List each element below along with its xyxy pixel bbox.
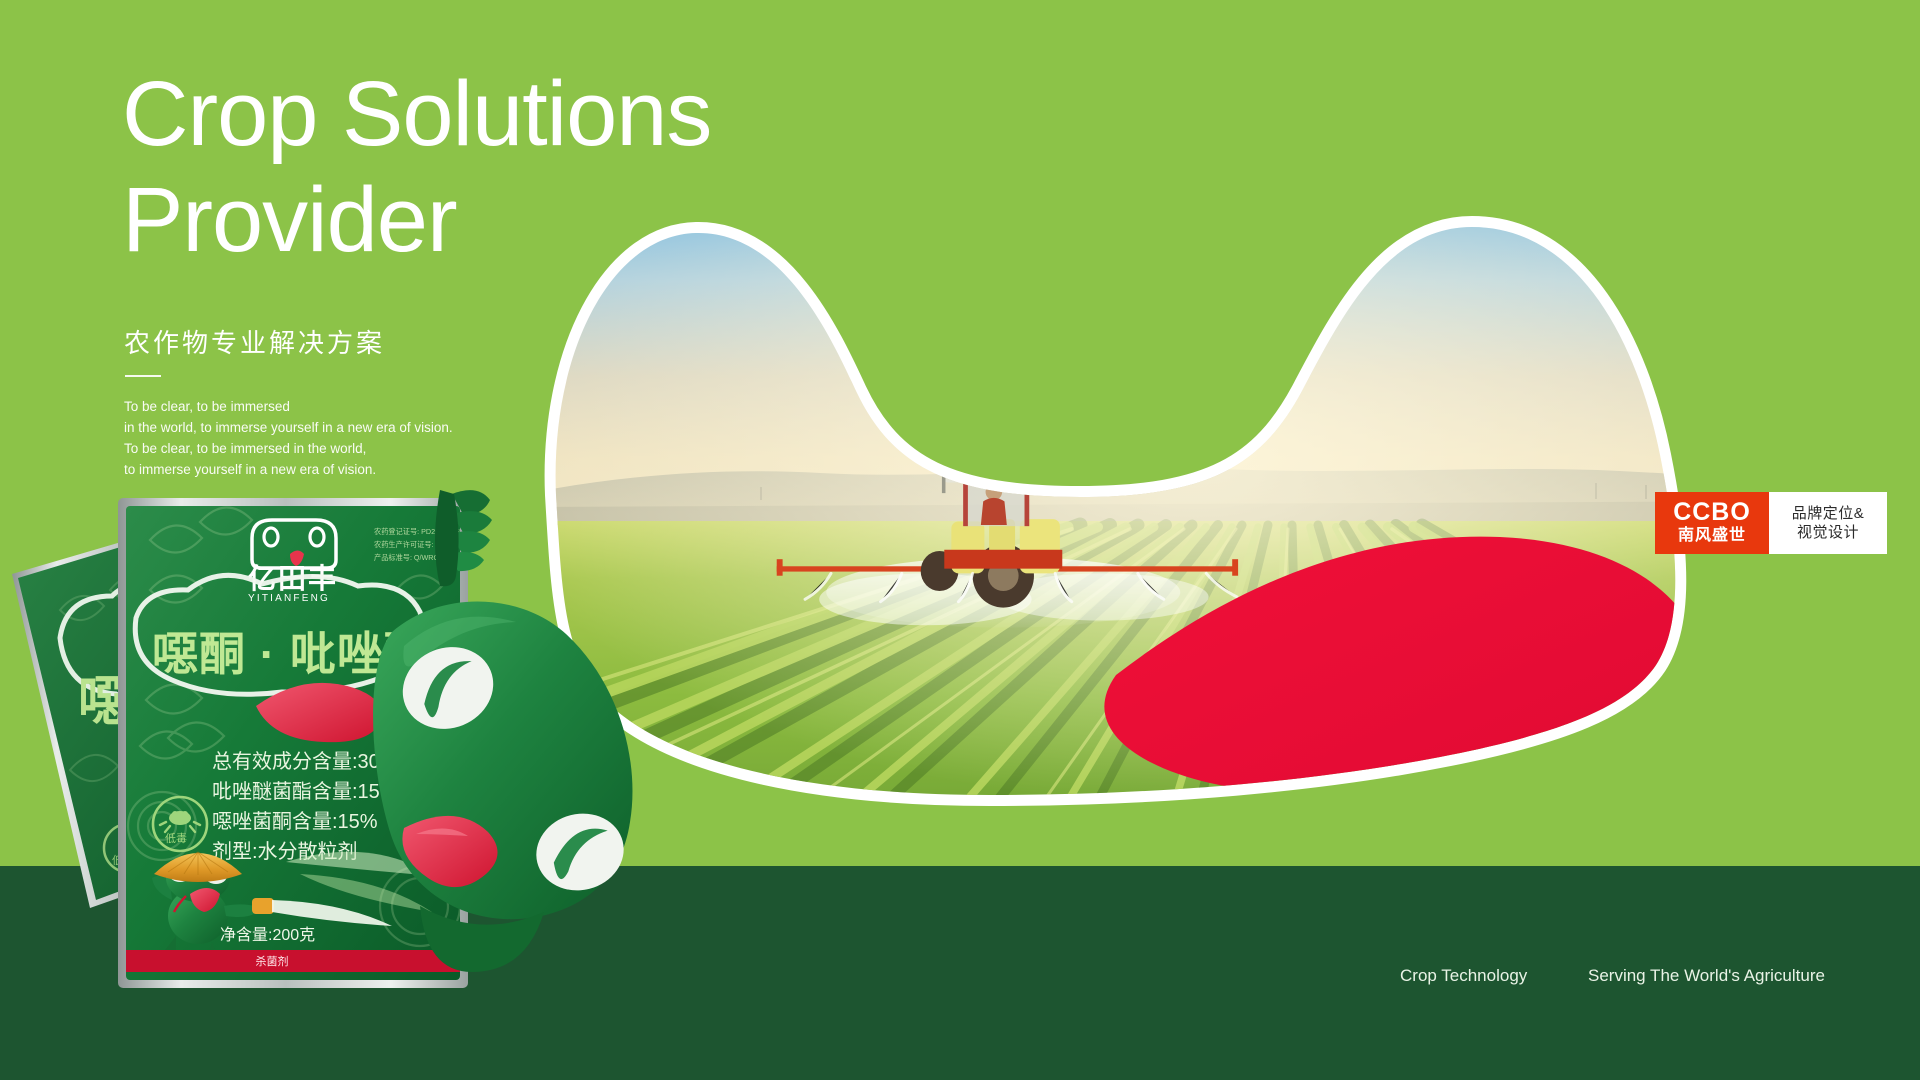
ccbo-tagline-line-1: 品牌定位&	[1792, 504, 1865, 524]
ccbo-logo-cn: 南风盛世	[1678, 526, 1746, 546]
svg-text:低毒: 低毒	[165, 832, 187, 845]
paragraph-block: To be clear, to be immersed in the world…	[124, 397, 544, 481]
headline-line-2: Provider	[122, 174, 882, 266]
package-net-weight: 净含量:200克	[220, 926, 315, 944]
product-package-group: 噁酮 低毒	[0, 470, 560, 1030]
headline-block: Crop Solutions Provider	[122, 68, 882, 266]
package-brand-en: YITIANFENG	[248, 593, 330, 604]
hero-photo-blob	[520, 195, 1820, 835]
divider-rule	[125, 375, 161, 377]
hero-photo-svg	[520, 195, 1820, 835]
subtitle-chinese: 农作物专业解决方案	[124, 323, 385, 360]
ccbo-tagline-line-2: 视觉设计	[1797, 523, 1859, 543]
ccbo-logo-en: CCBO	[1673, 500, 1751, 525]
footer-row: Crop Technology Serving The World's Agri…	[0, 966, 1920, 1006]
headline-line-1: Crop Solutions	[122, 68, 882, 160]
ccbo-logo-box: CCBO 南风盛世	[1655, 492, 1769, 554]
ccbo-tagline-box: 品牌定位& 视觉设计	[1769, 492, 1887, 554]
footer-left-text: Crop Technology	[1400, 966, 1527, 986]
paragraph-line-3: To be clear, to be immersed in the world…	[124, 439, 544, 460]
svg-text:总有效成分含量:30%: 总有效成分含量:30%	[212, 750, 398, 773]
svg-text:吡唑醚菌酯含量:15%: 吡唑醚菌酯含量:15%	[212, 780, 398, 803]
paragraph-line-2: in the world, to immerse yourself in a n…	[124, 418, 544, 439]
hero-photo-content	[520, 195, 1820, 835]
svg-text:噁唑菌酮含量:15%: 噁唑菌酮含量:15%	[212, 810, 378, 833]
footer-right-text: Serving The World's Agriculture	[1588, 966, 1825, 986]
paragraph-line-1: To be clear, to be immersed	[124, 397, 544, 418]
poster-canvas: Crop Solutions Provider 农作物专业解决方案 To be …	[0, 0, 1920, 1080]
ccbo-agency-badge: CCBO 南风盛世 品牌定位& 视觉设计	[1655, 492, 1887, 554]
